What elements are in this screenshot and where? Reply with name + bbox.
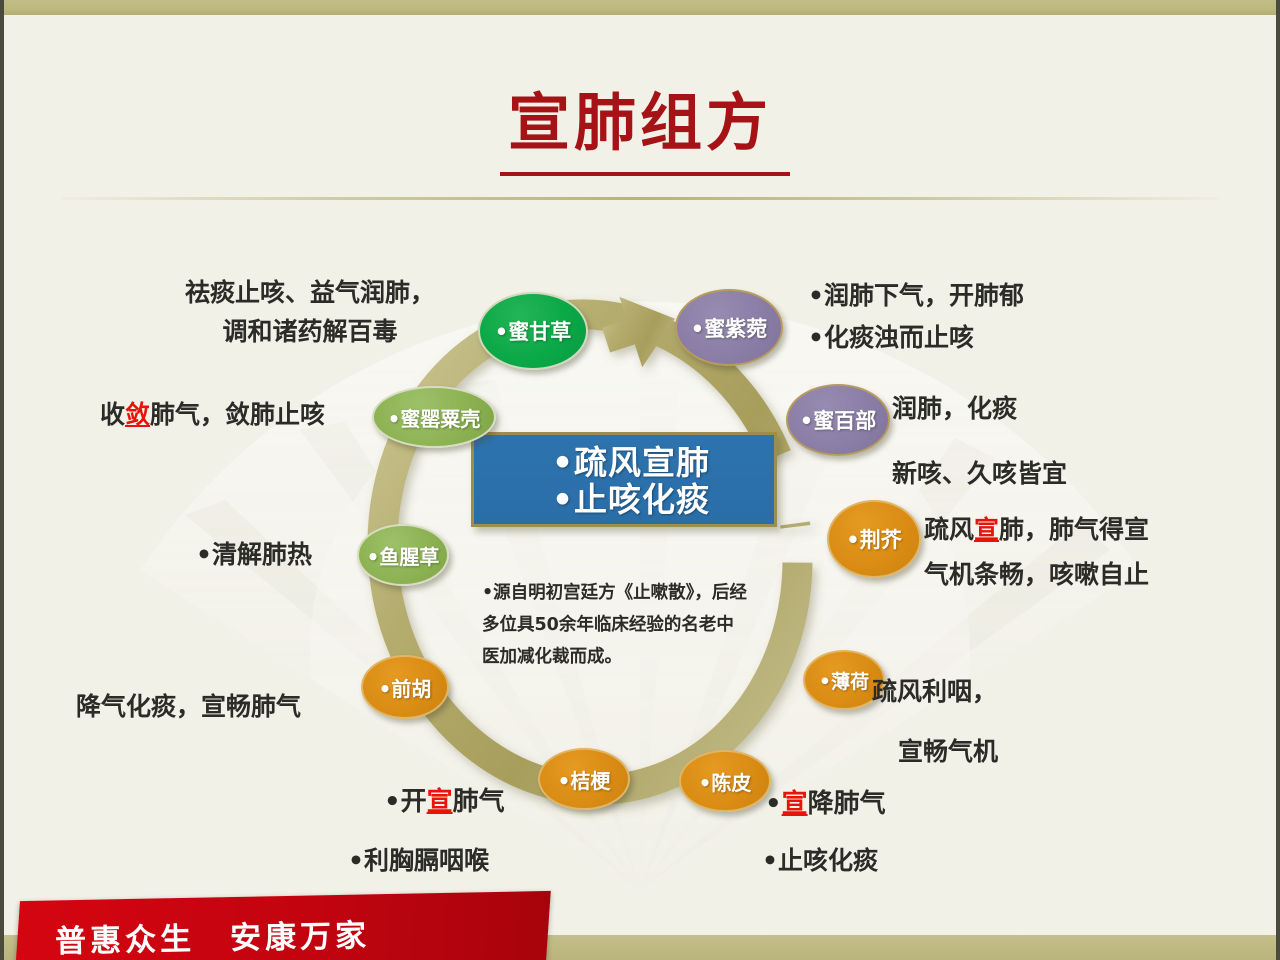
node-miziwan[interactable]: •蜜紫菀 <box>675 289 783 366</box>
annotation-migancao-line-1: 祛痰止咳、益气润肺， <box>150 274 470 313</box>
node-mibaibu[interactable]: •蜜百部 <box>786 384 890 456</box>
formula-source-note: •源自明初宫廷方《止嗽散》，后经多位具50余年临床经验的名老中医加减化裁而成。 <box>482 578 748 674</box>
annotation-miyingsuke-highlight: 敛 <box>125 400 150 429</box>
annotation-miyingsuke-post: 肺气，敛肺止咳 <box>150 400 325 429</box>
annotation-chenpi-l1-post: 降肺气 <box>808 789 886 819</box>
annotation-jingjie: 疏风宣肺，肺气得宣 气机条畅，咳嗽自止 <box>924 508 1149 597</box>
annotation-chenpi-line-1: •宣降肺气 <box>765 784 886 824</box>
node-chenpi-label: •陈皮 <box>699 767 752 796</box>
page-title: 宣肺组方 <box>0 92 1280 154</box>
annotation-jiegeng-l1-highlight: 宣 <box>427 787 453 817</box>
node-miyingsuke-label: •蜜罂粟壳 <box>388 403 481 432</box>
annotation-jingjie-line-1: 疏风宣肺，肺气得宣 <box>924 508 1149 553</box>
annotation-chenpi-line-2: •止咳化痰 <box>762 842 878 881</box>
slide-canvas: 宣肺组方 •疏风 <box>0 0 1280 960</box>
annotation-mibaibu: 润肺，化痰 新咳、久咳皆宜 <box>892 376 1067 506</box>
node-qianhu[interactable]: •前胡 <box>361 655 449 719</box>
annotation-jingjie-line-2: 气机条畅，咳嗽自止 <box>924 553 1149 598</box>
node-miyingsuke[interactable]: •蜜罂粟壳 <box>372 386 496 448</box>
annotation-chenpi-l1-highlight: 宣 <box>782 789 808 819</box>
node-qianhu-label: •前胡 <box>379 673 432 702</box>
annotation-yuxingcao-line-1: •清解肺热 <box>196 540 312 569</box>
annotation-mibaibu-line-2: 新咳、久咳皆宜 <box>892 441 1067 506</box>
annotation-miyingsuke: 收敛肺气，敛肺止咳 <box>100 396 325 435</box>
annotation-bohe: 疏风利咽， 宣畅气机 <box>872 662 998 782</box>
node-yuxingcao-label: •鱼腥草 <box>367 541 440 570</box>
annotation-chenpi-l1-pre: • <box>765 789 782 819</box>
annotation-miyingsuke-pre: 收 <box>100 400 125 429</box>
annotation-jiegeng-l1-pre: •开 <box>384 787 427 817</box>
node-jiegeng[interactable]: •桔梗 <box>538 748 630 810</box>
node-jiegeng-label: •桔梗 <box>558 765 611 794</box>
node-bohe-label: •薄荷 <box>819 667 869 694</box>
core-message-line-2: •止咳化痰 <box>474 482 774 519</box>
annotation-jingjie-l1-highlight: 宣 <box>974 515 999 544</box>
annotation-bohe-line-2: 宣畅气机 <box>872 722 998 782</box>
annotation-qianhu-line-1: 降气化痰，宣畅肺气 <box>76 692 301 721</box>
annotation-jiegeng-line-1: •开宣肺气 <box>384 782 505 822</box>
annotation-jingjie-l1-post: 肺，肺气得宣 <box>999 515 1149 544</box>
node-jingjie-label: •荆芥 <box>846 524 901 554</box>
header-divider <box>62 197 1220 200</box>
core-message-box: •疏风宣肺 •止咳化痰 <box>471 432 777 527</box>
node-yuxingcao[interactable]: •鱼腥草 <box>357 524 449 586</box>
annotation-miziwan-line-1: •润肺下气，开肺郁 <box>808 275 1024 317</box>
core-message-line-1: •疏风宣肺 <box>474 445 774 482</box>
annotation-migancao-line-2: 调和诸药解百毒 <box>150 313 470 352</box>
annotation-bohe-line-1: 疏风利咽， <box>872 662 998 722</box>
annotation-qianhu: 降气化痰，宣畅肺气 <box>76 688 301 727</box>
title-underline <box>500 172 790 176</box>
top-decor-band <box>0 0 1280 15</box>
node-chenpi[interactable]: •陈皮 <box>679 750 771 812</box>
node-migancao[interactable]: •蜜甘草 <box>478 292 588 370</box>
annotation-mibaibu-line-1: 润肺，化痰 <box>892 376 1067 441</box>
footer-slogan: 普惠众生 安康万家 <box>55 910 371 960</box>
node-migancao-label: •蜜甘草 <box>495 316 571 346</box>
annotation-yuxingcao: •清解肺热 <box>196 536 312 575</box>
annotation-jiegeng-l1-post: 肺气 <box>453 787 505 817</box>
node-jingjie[interactable]: •荆芥 <box>827 500 921 578</box>
annotation-jiegeng-line-2: •利胸膈咽喉 <box>348 842 489 881</box>
annotation-miziwan-line-2: •化痰浊而止咳 <box>808 317 1024 359</box>
node-mibaibu-label: •蜜百部 <box>800 405 876 435</box>
annotation-migancao: 祛痰止咳、益气润肺， 调和诸药解百毒 <box>150 274 470 352</box>
annotation-jingjie-l1-pre: 疏风 <box>924 515 974 544</box>
annotation-miziwan: •润肺下气，开肺郁 •化痰浊而止咳 <box>808 275 1024 359</box>
node-miziwan-label: •蜜紫菀 <box>691 313 767 343</box>
